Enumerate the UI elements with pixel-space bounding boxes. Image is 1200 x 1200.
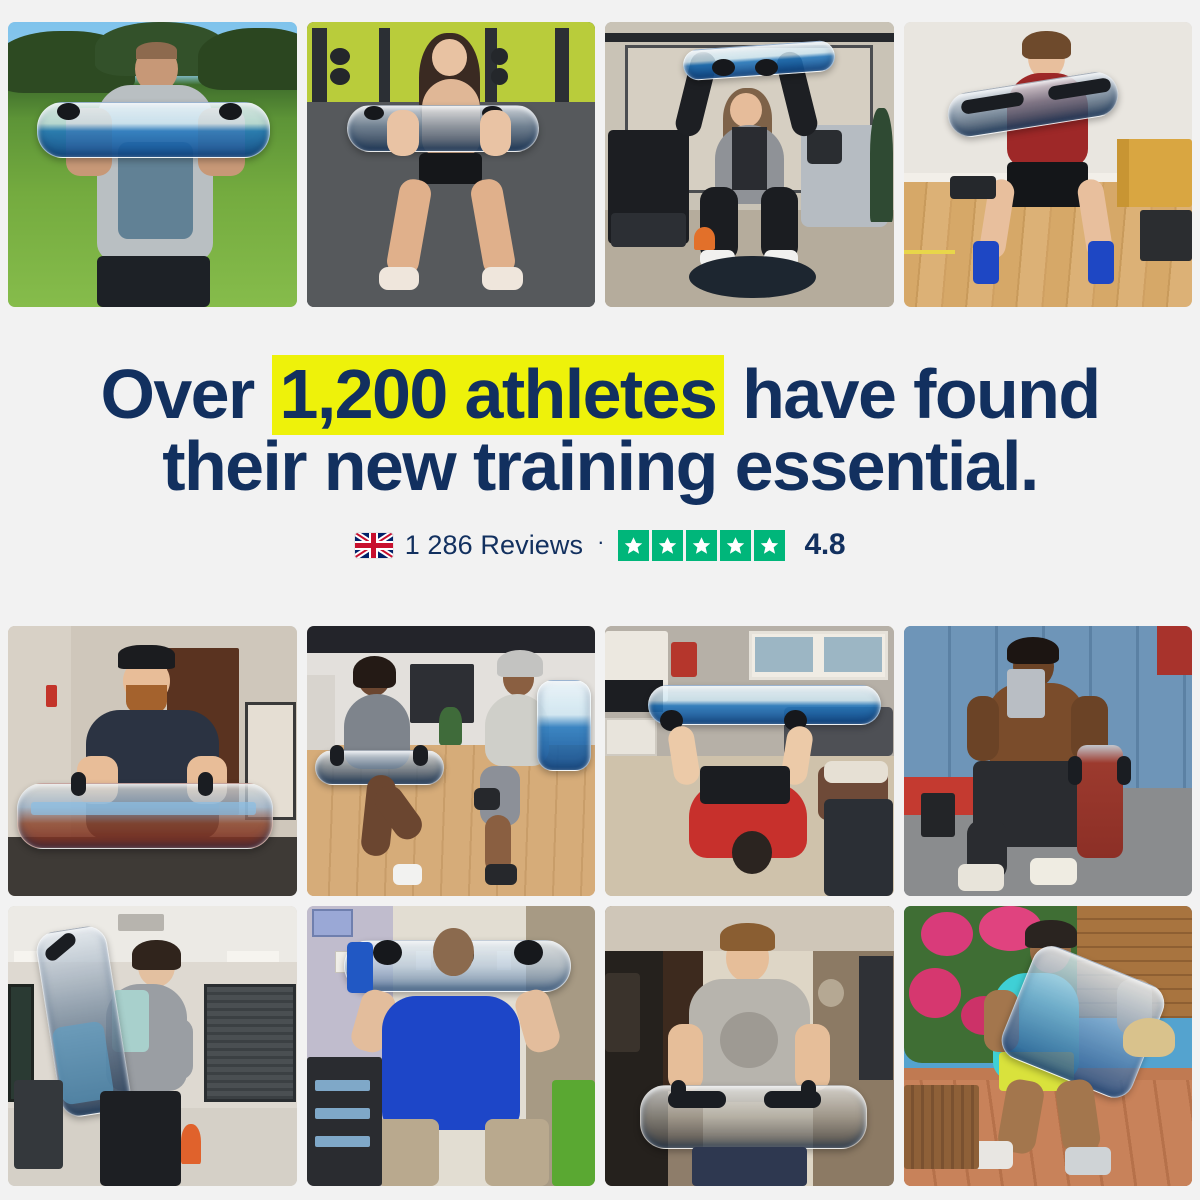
photo-content <box>8 906 297 1186</box>
reviews-count: 1 286 Reviews <box>405 530 583 561</box>
photo-content <box>605 906 894 1186</box>
gallery-bottom <box>0 626 1200 1200</box>
rating-score: 4.8 <box>804 528 845 562</box>
star-icon <box>618 530 649 561</box>
photo-blue-shirt-overhead[interactable] <box>307 906 596 1186</box>
gallery-top <box>0 0 1200 286</box>
headline-highlight: 1,200 athletes <box>272 355 725 435</box>
star-rating[interactable] <box>618 530 785 561</box>
photo-bearded-man-indoors[interactable] <box>8 626 297 896</box>
headline-part-1: Over <box>101 355 272 433</box>
photo-woman-bosu-overhead[interactable] <box>605 22 894 307</box>
photo-content <box>307 906 596 1186</box>
photo-content <box>605 626 894 896</box>
photo-young-man-grey-tee[interactable] <box>605 906 894 1186</box>
photo-content <box>8 22 297 307</box>
photo-locker-room-selfie[interactable] <box>904 626 1193 896</box>
headline-line-2: their new training essential. <box>101 430 1100 502</box>
photo-boy-wood-floor[interactable] <box>904 22 1193 307</box>
photo-content <box>605 22 894 307</box>
star-icon <box>754 530 785 561</box>
photo-content <box>307 22 596 307</box>
uk-flag-icon <box>355 533 393 558</box>
photo-floor-press-carpet[interactable] <box>605 626 894 896</box>
star-icon <box>686 530 717 561</box>
photo-outdoor-patio-carry[interactable] <box>904 906 1193 1186</box>
star-icon <box>652 530 683 561</box>
photo-woman-green-gym[interactable] <box>307 22 596 307</box>
star-icon <box>720 530 751 561</box>
photo-content <box>904 22 1193 307</box>
page-title: Over 1,200 athletes have found their new… <box>81 358 1120 502</box>
photo-two-people-lunge[interactable] <box>307 626 596 896</box>
photo-content <box>904 626 1193 896</box>
photo-man-outdoor-grass[interactable] <box>8 22 297 307</box>
social-proof-bar: 1 286 Reviews · 4.8 <box>355 528 846 562</box>
photo-clinic-therapist[interactable] <box>8 906 297 1186</box>
headline-block: Over 1,200 athletes have found their new… <box>0 286 1200 626</box>
photo-content <box>307 626 596 896</box>
separator-dot: · <box>595 531 606 559</box>
headline-part-2: have found <box>724 355 1099 433</box>
photo-content <box>904 906 1193 1186</box>
social-proof-section: Over 1,200 athletes have found their new… <box>0 0 1200 1200</box>
photo-content <box>8 626 297 896</box>
